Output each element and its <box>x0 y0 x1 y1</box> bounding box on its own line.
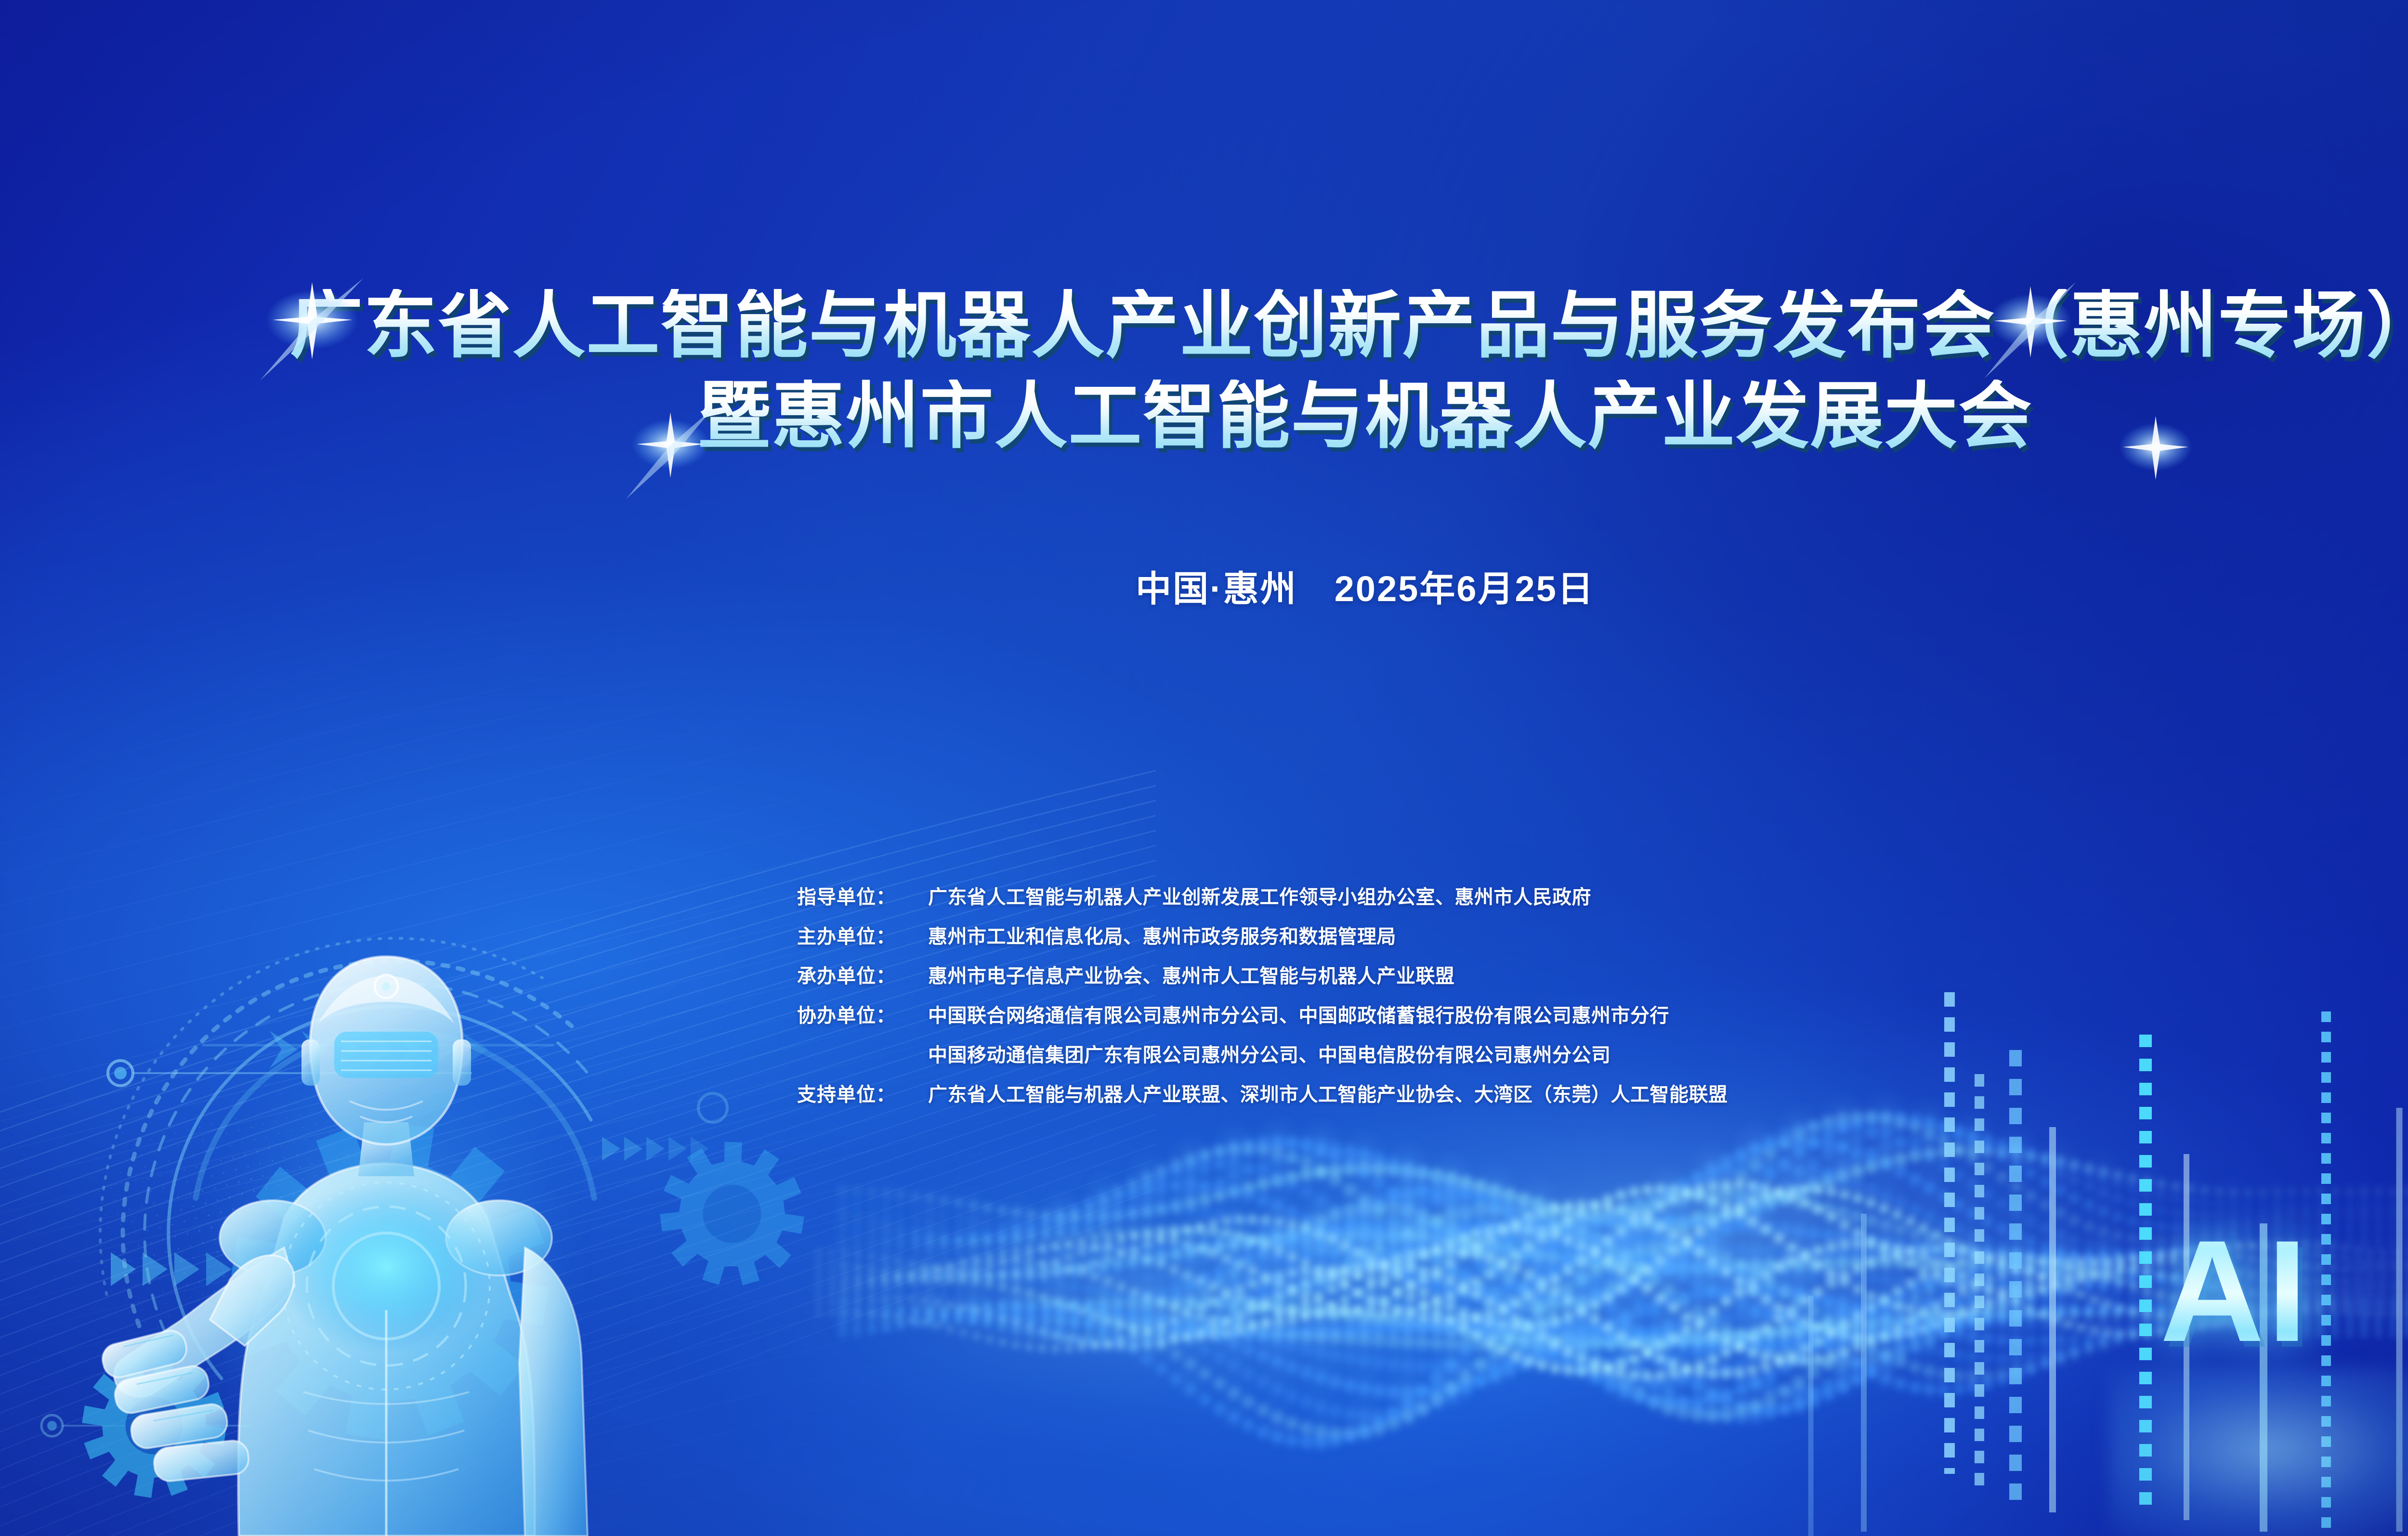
title-line-1: 广东省人工智能与机器人产业创新产品与服务发布会（惠州专场） <box>0 289 2408 362</box>
organizer-list: 指导单位： 广东省人工智能与机器人产业创新发展工作领导小组办公室、惠州市人民政府… <box>797 881 1728 1118</box>
organizer-value: 惠州市电子信息产业协会、惠州市人工智能与机器人产业联盟 <box>928 960 1455 988</box>
ai-logo-glow <box>2109 1368 2408 1536</box>
title-line-2: 暨惠州市人工智能与机器人产业发展大会 <box>0 380 2408 453</box>
robot-figure <box>77 930 713 1536</box>
organizer-label: 承办单位： <box>797 960 928 988</box>
poster-canvas: 广东省人工智能与机器人产业创新产品与服务发布会（惠州专场） 暨惠州市人工智能与机… <box>0 0 2408 1536</box>
organizer-label: 指导单位： <box>797 881 928 909</box>
subtitle-location-date: 中国·惠州 2025年6月25日 <box>0 560 2408 612</box>
organizer-value: 中国联合网络通信有限公司惠州市分公司、中国邮政储蓄银行股份有限公司惠州市分行 <box>928 1000 1669 1028</box>
organizer-label: 支持单位： <box>797 1079 928 1107</box>
organizer-row: 支持单位： 广东省人工智能与机器人产业联盟、深圳市人工智能产业协会、大湾区（东莞… <box>797 1079 1728 1118</box>
organizer-label: 主办单位： <box>797 921 928 949</box>
organizer-value: 中国移动通信集团广东有限公司惠州分公司、中国电信股份有限公司惠州分公司 <box>928 1039 1611 1067</box>
organizer-row: 承办单位： 惠州市电子信息产业协会、惠州市人工智能与机器人产业联盟 <box>797 960 1728 1000</box>
ai-logo-text: AI <box>2160 1219 2310 1363</box>
organizer-value: 广东省人工智能与机器人产业创新发展工作领导小组办公室、惠州市人民政府 <box>928 881 1591 909</box>
title-block: 广东省人工智能与机器人产业创新产品与服务发布会（惠州专场） 暨惠州市人工智能与机… <box>0 289 2408 453</box>
organizer-row-continuation: 协办单位： 中国移动通信集团广东有限公司惠州分公司、中国电信股份有限公司惠州分公… <box>797 1039 1728 1079</box>
organizer-value: 广东省人工智能与机器人产业联盟、深圳市人工智能产业协会、大湾区（东莞）人工智能联… <box>928 1079 1728 1107</box>
organizer-value: 惠州市工业和信息化局、惠州市政务服务和数据管理局 <box>928 921 1396 949</box>
organizer-label: 协办单位： <box>797 1000 928 1028</box>
organizer-row: 协办单位： 中国联合网络通信有限公司惠州市分公司、中国邮政储蓄银行股份有限公司惠… <box>797 1000 1728 1039</box>
organizer-row: 指导单位： 广东省人工智能与机器人产业创新发展工作领导小组办公室、惠州市人民政府 <box>797 881 1728 921</box>
organizer-row: 主办单位： 惠州市工业和信息化局、惠州市政务服务和数据管理局 <box>797 921 1728 960</box>
